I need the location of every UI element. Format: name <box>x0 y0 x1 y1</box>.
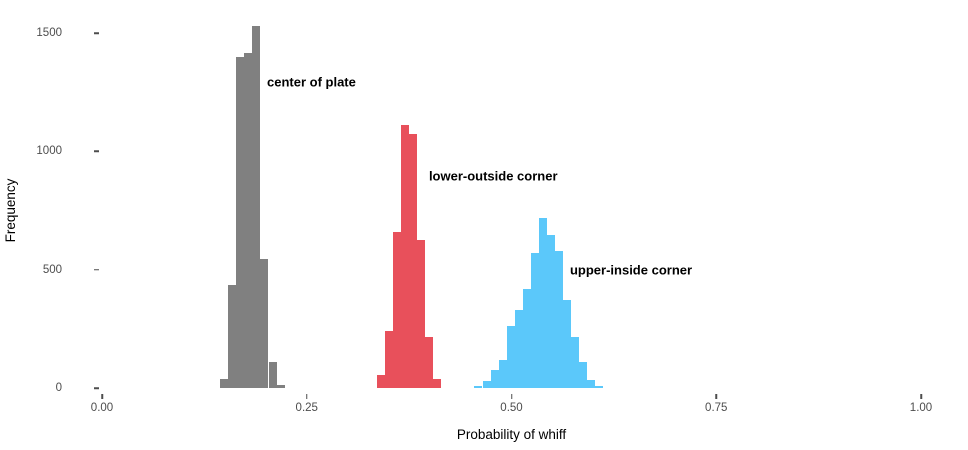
histogram-bar <box>244 53 252 388</box>
histogram-bar <box>523 289 531 388</box>
histogram-bar <box>595 386 603 388</box>
histogram-bar <box>483 381 491 388</box>
histogram-bar <box>220 379 228 388</box>
histogram-bar <box>277 385 285 388</box>
histogram-series <box>0 0 968 450</box>
y-tick-mark <box>94 32 99 34</box>
x-tick-mark <box>101 394 103 399</box>
histogram-bar <box>587 380 595 388</box>
histogram-bar <box>539 218 547 388</box>
series-annotation-label: upper-inside corner <box>570 263 692 278</box>
x-tick-mark <box>920 394 922 399</box>
x-axis-title: Probability of whiff <box>102 427 921 442</box>
histogram-bar <box>425 337 433 388</box>
histogram-bar <box>571 337 579 388</box>
series-annotation-label: lower-outside corner <box>429 169 558 184</box>
histogram-bar <box>409 134 417 388</box>
histogram-bar <box>228 285 236 388</box>
y-tick-mark <box>94 151 99 153</box>
histogram-bar <box>555 251 563 388</box>
histogram-bar <box>385 331 393 388</box>
plot-panel <box>0 0 968 450</box>
y-axis-title: Frequency <box>0 33 22 388</box>
x-tick-label: 0.25 <box>296 402 318 414</box>
y-tick-label: 1000 <box>22 145 62 157</box>
histogram-bar <box>377 375 385 388</box>
histogram-bar <box>547 235 555 388</box>
histogram-bar <box>433 379 441 388</box>
histogram-bar <box>491 370 499 388</box>
x-tick-label: 1.00 <box>910 402 932 414</box>
histogram-bar <box>474 386 482 388</box>
histogram-bar <box>269 362 277 388</box>
x-tick-mark <box>511 394 513 399</box>
y-tick-label: 500 <box>22 264 62 276</box>
histogram-series <box>0 0 968 450</box>
histogram-bar <box>499 360 507 388</box>
histogram-bar <box>417 240 425 388</box>
histogram-series <box>0 0 968 450</box>
x-tick-mark <box>716 394 718 399</box>
x-tick-label: 0.00 <box>91 402 113 414</box>
y-tick-mark <box>94 269 99 271</box>
x-tick-mark <box>306 394 308 399</box>
histogram-bar <box>515 310 523 388</box>
series-annotation-label: center of plate <box>267 74 356 89</box>
y-tick-label: 1500 <box>22 27 62 39</box>
x-tick-label: 0.50 <box>500 402 522 414</box>
y-tick-mark <box>94 387 99 389</box>
histogram-bar <box>507 326 515 388</box>
histogram-bar <box>260 259 268 388</box>
histogram-bar <box>531 253 539 388</box>
x-tick-label: 0.75 <box>705 402 727 414</box>
y-tick-label: 0 <box>22 382 62 394</box>
histogram-bar <box>252 26 260 388</box>
histogram-bar <box>401 125 409 388</box>
histogram-bar <box>563 300 571 388</box>
histogram-bar <box>579 362 587 388</box>
histogram-bar <box>236 57 244 388</box>
histogram-bar <box>393 232 401 388</box>
histogram-chart: Frequency Probability of whiff 050010001… <box>0 0 968 450</box>
